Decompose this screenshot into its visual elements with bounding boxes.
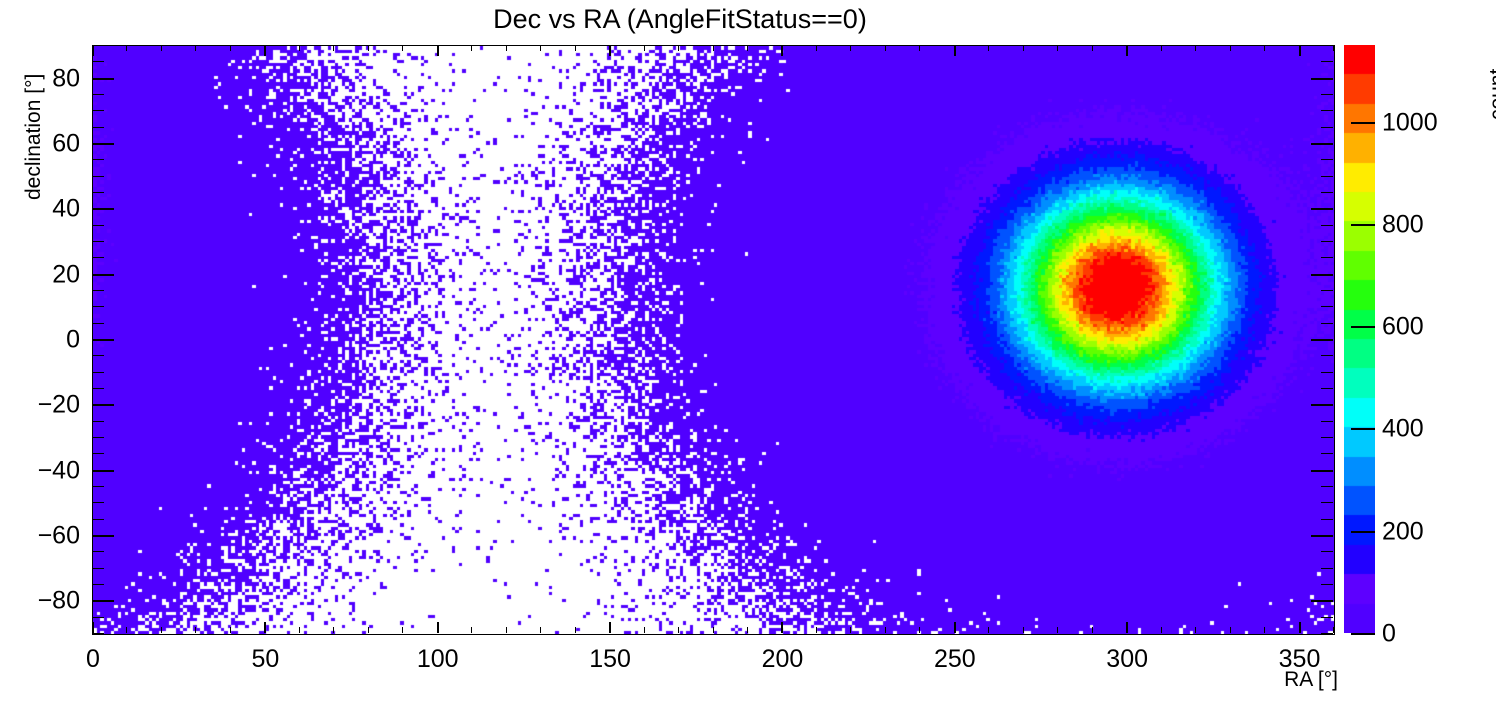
x-tick-label: 100 — [417, 645, 459, 674]
y-tick-label: −20 — [0, 391, 80, 420]
y-tick-major-right — [1311, 535, 1333, 537]
x-tick-minor — [1057, 627, 1058, 633]
y-tick-minor-right — [1321, 176, 1333, 177]
x-tick-minor-top — [850, 45, 851, 51]
x-tick-minor — [230, 627, 231, 633]
y-tick-minor — [92, 633, 104, 634]
x-tick-minor-top — [747, 45, 748, 51]
x-tick-minor-top — [161, 45, 162, 51]
y-tick-minor — [92, 176, 104, 177]
y-tick-minor-right — [1321, 290, 1333, 291]
x-tick-minor-top — [230, 45, 231, 51]
y-tick-major-right — [1311, 600, 1333, 602]
x-tick-minor — [161, 627, 162, 633]
y-tick-major — [92, 600, 114, 602]
y-tick-major-right — [1311, 143, 1333, 145]
y-tick-minor — [92, 453, 104, 454]
y-tick-minor — [92, 519, 104, 520]
y-tick-major — [92, 470, 114, 472]
y-tick-label: 0 — [0, 326, 80, 355]
x-tick-minor-top — [471, 45, 472, 51]
x-tick-major — [781, 622, 783, 633]
y-tick-minor-right — [1321, 568, 1333, 569]
colorbar-tick — [1351, 428, 1375, 430]
colorbar-gradient — [1344, 45, 1375, 633]
x-tick-minor — [1230, 627, 1231, 633]
x-tick-minor-top — [1195, 45, 1196, 51]
x-tick-major — [609, 622, 611, 633]
y-tick-minor — [92, 584, 104, 585]
y-tick-major-right — [1311, 339, 1333, 341]
x-tick-minor — [195, 627, 196, 633]
x-tick-minor-top — [988, 45, 989, 51]
x-tick-minor-top — [540, 45, 541, 51]
y-tick-minor — [92, 437, 104, 438]
colorbar-tick — [1351, 531, 1375, 533]
x-tick-minor — [850, 627, 851, 633]
x-tick-major — [1126, 622, 1128, 633]
x-tick-minor — [1195, 627, 1196, 633]
x-tick-minor-top — [575, 45, 576, 51]
x-tick-minor — [126, 627, 127, 633]
x-tick-minor-top — [1161, 45, 1162, 51]
colorbar-tick-label: 800 — [1382, 210, 1424, 239]
x-tick-minor-top — [919, 45, 920, 51]
y-tick-minor — [92, 421, 104, 422]
x-tick-minor — [575, 627, 576, 633]
x-tick-minor-top — [885, 45, 886, 51]
root-canvas: Dec vs RA (AngleFitStatus==0) 0501001502… — [0, 0, 1496, 722]
y-tick-minor — [92, 110, 104, 111]
x-tick-minor — [678, 627, 679, 633]
x-tick-minor — [1023, 627, 1024, 633]
x-tick-minor — [919, 627, 920, 633]
y-tick-minor-right — [1321, 453, 1333, 454]
y-tick-minor — [92, 45, 104, 46]
y-tick-minor-right — [1321, 61, 1333, 62]
y-tick-minor — [92, 388, 104, 389]
y-tick-minor — [92, 372, 104, 373]
x-tick-major — [264, 622, 266, 633]
y-tick-minor — [92, 225, 104, 226]
y-tick-major — [92, 404, 114, 406]
y-tick-major — [92, 78, 114, 80]
y-tick-minor — [92, 355, 104, 356]
colorbar-tick — [1351, 326, 1375, 328]
y-tick-label: −40 — [0, 456, 80, 485]
y-tick-minor — [92, 486, 104, 487]
x-tick-minor — [988, 627, 989, 633]
x-tick-minor — [471, 627, 472, 633]
x-tick-minor-top — [333, 45, 334, 51]
y-tick-major — [92, 143, 114, 145]
y-tick-minor — [92, 568, 104, 569]
y-tick-minor — [92, 127, 104, 128]
x-tick-label: 0 — [86, 645, 100, 674]
y-tick-label: −60 — [0, 522, 80, 551]
x-tick-minor — [885, 627, 886, 633]
x-tick-minor — [1092, 627, 1093, 633]
x-tick-minor-top — [713, 45, 714, 51]
colorbar-tick — [1351, 122, 1375, 124]
y-tick-minor — [92, 290, 104, 291]
y-tick-minor — [92, 502, 104, 503]
y-tick-minor — [92, 306, 104, 307]
y-tick-minor-right — [1321, 633, 1333, 634]
y-tick-minor — [92, 257, 104, 258]
x-tick-minor-top — [368, 45, 369, 51]
x-tick-label: 250 — [934, 645, 976, 674]
x-tick-minor-top — [1264, 45, 1265, 51]
x-tick-major-top — [92, 45, 94, 56]
x-tick-minor-top — [644, 45, 645, 51]
x-tick-major-top — [1126, 45, 1128, 56]
x-tick-major-top — [954, 45, 956, 56]
y-tick-major-right — [1311, 404, 1333, 406]
x-tick-minor-top — [1333, 45, 1334, 51]
x-tick-minor — [299, 627, 300, 633]
y-tick-minor-right — [1321, 257, 1333, 258]
y-tick-minor-right — [1321, 323, 1333, 324]
colorbar-tick-label: 1000 — [1382, 108, 1438, 137]
colorbar-tick — [1351, 633, 1375, 635]
histogram-canvas — [93, 46, 1334, 634]
x-tick-minor-top — [1230, 45, 1231, 51]
y-tick-minor-right — [1321, 127, 1333, 128]
y-tick-minor-right — [1321, 502, 1333, 503]
x-tick-minor-top — [1092, 45, 1093, 51]
x-tick-minor — [816, 627, 817, 633]
y-tick-minor-right — [1321, 519, 1333, 520]
x-tick-major-top — [1299, 45, 1301, 56]
colorbar — [1344, 45, 1375, 633]
y-tick-minor-right — [1321, 372, 1333, 373]
x-tick-major — [437, 622, 439, 633]
y-tick-label: −80 — [0, 587, 80, 616]
x-tick-label: 300 — [1106, 645, 1148, 674]
x-tick-minor-top — [126, 45, 127, 51]
y-tick-minor-right — [1321, 241, 1333, 242]
x-tick-label: 150 — [589, 645, 631, 674]
colorbar-tick-label: 200 — [1382, 517, 1424, 546]
y-tick-minor-right — [1321, 110, 1333, 111]
x-tick-minor-top — [1057, 45, 1058, 51]
y-tick-minor — [92, 94, 104, 95]
x-tick-minor — [747, 627, 748, 633]
y-tick-label: 20 — [0, 260, 80, 289]
y-tick-minor-right — [1321, 421, 1333, 422]
x-tick-major — [954, 622, 956, 633]
colorbar-axis-title: count — [1486, 69, 1496, 120]
y-tick-minor — [92, 617, 104, 618]
x-tick-minor — [713, 627, 714, 633]
x-tick-minor-top — [1023, 45, 1024, 51]
y-tick-minor — [92, 192, 104, 193]
x-tick-major — [92, 622, 94, 633]
x-tick-label: 50 — [251, 645, 279, 674]
y-tick-minor — [92, 61, 104, 62]
y-tick-minor-right — [1321, 584, 1333, 585]
x-tick-minor-top — [506, 45, 507, 51]
y-tick-minor — [92, 551, 104, 552]
x-tick-minor — [540, 627, 541, 633]
y-tick-minor — [92, 241, 104, 242]
y-tick-major — [92, 339, 114, 341]
y-tick-minor-right — [1321, 45, 1333, 46]
y-tick-minor-right — [1321, 192, 1333, 193]
x-tick-label: 200 — [762, 645, 804, 674]
page-title: Dec vs RA (AngleFitStatus==0) — [0, 4, 1360, 35]
y-tick-minor — [92, 323, 104, 324]
y-tick-major — [92, 208, 114, 210]
colorbar-tick-label: 600 — [1382, 313, 1424, 342]
y-tick-minor — [92, 159, 104, 160]
x-tick-minor-top — [678, 45, 679, 51]
x-tick-minor — [1264, 627, 1265, 633]
y-tick-major-right — [1311, 470, 1333, 472]
x-tick-minor-top — [299, 45, 300, 51]
y-tick-minor-right — [1321, 306, 1333, 307]
y-tick-minor-right — [1321, 159, 1333, 160]
x-tick-minor — [333, 627, 334, 633]
y-tick-minor-right — [1321, 225, 1333, 226]
y-tick-major-right — [1311, 274, 1333, 276]
x-tick-minor — [368, 627, 369, 633]
x-tick-minor-top — [195, 45, 196, 51]
y-tick-minor-right — [1321, 486, 1333, 487]
y-tick-major — [92, 274, 114, 276]
x-tick-minor — [1333, 627, 1334, 633]
x-tick-major-top — [437, 45, 439, 56]
x-tick-major-top — [781, 45, 783, 56]
plot-frame — [92, 45, 1335, 635]
colorbar-tick-label: 0 — [1382, 620, 1396, 649]
x-tick-major — [1299, 622, 1301, 633]
y-tick-minor-right — [1321, 617, 1333, 618]
x-tick-minor-top — [816, 45, 817, 51]
y-tick-major — [92, 535, 114, 537]
y-tick-minor-right — [1321, 388, 1333, 389]
x-tick-major-top — [264, 45, 266, 56]
x-tick-major-top — [609, 45, 611, 56]
y-tick-major-right — [1311, 208, 1333, 210]
x-tick-minor — [506, 627, 507, 633]
x-tick-minor-top — [402, 45, 403, 51]
colorbar-tick-label: 400 — [1382, 415, 1424, 444]
colorbar-tick — [1351, 224, 1375, 226]
x-tick-minor — [1161, 627, 1162, 633]
y-axis-title: declination [°] — [22, 74, 46, 200]
y-tick-minor-right — [1321, 355, 1333, 356]
y-tick-major-right — [1311, 78, 1333, 80]
y-tick-minor-right — [1321, 94, 1333, 95]
y-tick-minor-right — [1321, 551, 1333, 552]
x-tick-minor — [644, 627, 645, 633]
y-tick-minor-right — [1321, 437, 1333, 438]
x-axis-title: RA [°] — [1284, 668, 1338, 692]
x-tick-minor — [402, 627, 403, 633]
